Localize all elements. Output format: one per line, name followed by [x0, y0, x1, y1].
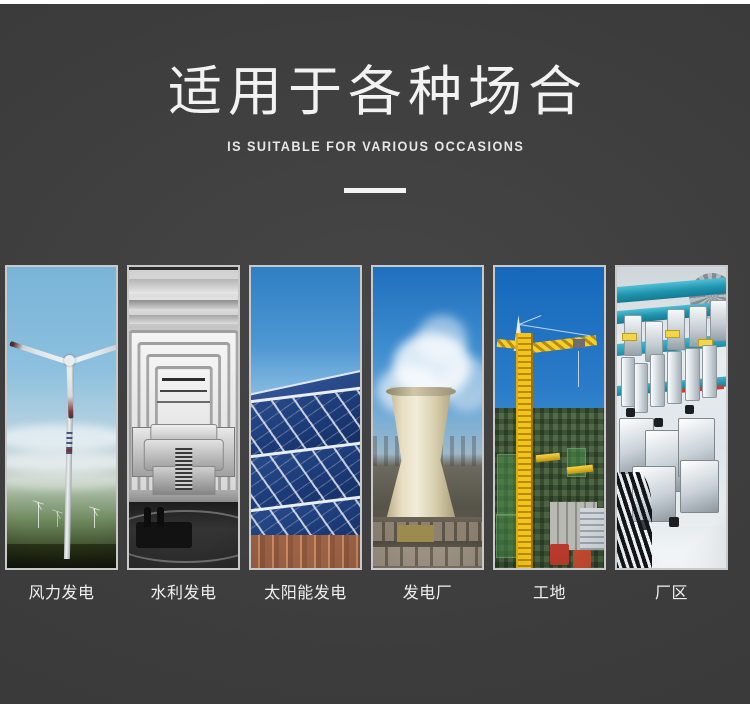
gallery-item-label: 发电厂 [371, 583, 484, 603]
crane-trolley [573, 339, 585, 348]
distant-turbine-icon [57, 511, 58, 527]
turbine-blade-icon [9, 341, 70, 365]
distant-turbine-icon [38, 502, 39, 528]
plant-buildings [373, 547, 482, 566]
cloud-band-icon [5, 451, 118, 472]
factory-machinery-image [615, 265, 728, 570]
ceiling-beam [129, 315, 238, 324]
wind-turbine-image [5, 265, 118, 570]
gallery-item-wind[interactable]: 风力发电 [5, 265, 118, 603]
pneumatic-cylinder [685, 348, 700, 401]
title-divider [344, 188, 406, 193]
distant-turbine-icon [94, 508, 95, 528]
roof-tiles [251, 535, 360, 568]
cable-bundle [615, 472, 652, 568]
stair-icon [175, 448, 192, 490]
pneumatic-cylinder [621, 357, 635, 407]
yellow-tag [665, 330, 680, 338]
cooling-tower-rim [386, 387, 456, 396]
machine-head [710, 300, 728, 341]
cooling-tower-image [371, 265, 484, 570]
ceiling-beam [129, 279, 238, 294]
pneumatic-cylinder [702, 345, 717, 398]
fixture-cap [685, 405, 694, 414]
promo-banner-page: 适用于各种场合 IS SUITABLE FOR VARIOUS OCCASION… [0, 0, 750, 712]
fixture-cap [654, 418, 663, 427]
ceiling-stripe [129, 267, 238, 270]
plant-yard [397, 525, 434, 542]
occasion-gallery: 风力发电 [5, 265, 745, 603]
cloud-band-icon [5, 424, 118, 451]
gallery-item-solar[interactable]: 太阳能发电 [249, 265, 362, 603]
gallery-item-factory[interactable]: 厂区 [615, 265, 728, 603]
pneumatic-cylinder [667, 351, 682, 404]
mast-logo [66, 432, 72, 454]
gallery-item-label: 水利发电 [127, 583, 240, 603]
gallery-item-construction[interactable]: 工地 [493, 265, 606, 603]
page-subtitle: IS SUITABLE FOR VARIOUS OCCASIONS [23, 122, 728, 155]
pneumatic-cylinder [650, 354, 665, 407]
gallery-item-label: 厂区 [615, 583, 728, 603]
site-truck [573, 550, 590, 568]
metal-fixture [680, 460, 719, 513]
plant-grounds [373, 517, 482, 568]
adjacent-building [580, 508, 604, 550]
fixture-cap [626, 408, 635, 417]
dark-stage: 适用于各种场合 IS SUITABLE FOR VARIOUS OCCASION… [0, 4, 750, 704]
cloud-band-icon [5, 472, 118, 490]
crane-hook-line [578, 351, 579, 387]
fixture-cap [669, 517, 679, 527]
wall-sign [160, 390, 208, 392]
yellow-tag [622, 333, 637, 341]
gallery-item-label: 工地 [493, 583, 606, 603]
gallery-item-hydro[interactable]: 水利发电 [127, 265, 240, 603]
gallery-item-power-plant[interactable]: 发电厂 [371, 265, 484, 603]
ceiling-beam [129, 300, 238, 309]
ground-strip [7, 544, 116, 568]
lower-floor [129, 502, 238, 568]
hydroelectric-hall-image [127, 265, 240, 570]
crane-tie-line [519, 315, 542, 325]
image-vignette [7, 267, 116, 568]
wall-sign [157, 401, 209, 403]
header-block: 适用于各种场合 IS SUITABLE FOR VARIOUS OCCASION… [0, 4, 750, 193]
turbine-blade-icon [68, 341, 118, 365]
page-title: 适用于各种场合 [0, 4, 750, 122]
solar-panel-image [249, 265, 362, 570]
wall-sign [162, 378, 206, 381]
gallery-item-label: 风力发电 [5, 583, 118, 603]
floor-post [157, 507, 164, 527]
floor-post [144, 507, 151, 527]
gallery-item-label: 太阳能发电 [249, 583, 362, 603]
construction-site-image [493, 265, 606, 570]
pneumatic-cylinder [634, 363, 648, 413]
crane-mast [516, 333, 533, 568]
site-truck [550, 544, 570, 565]
